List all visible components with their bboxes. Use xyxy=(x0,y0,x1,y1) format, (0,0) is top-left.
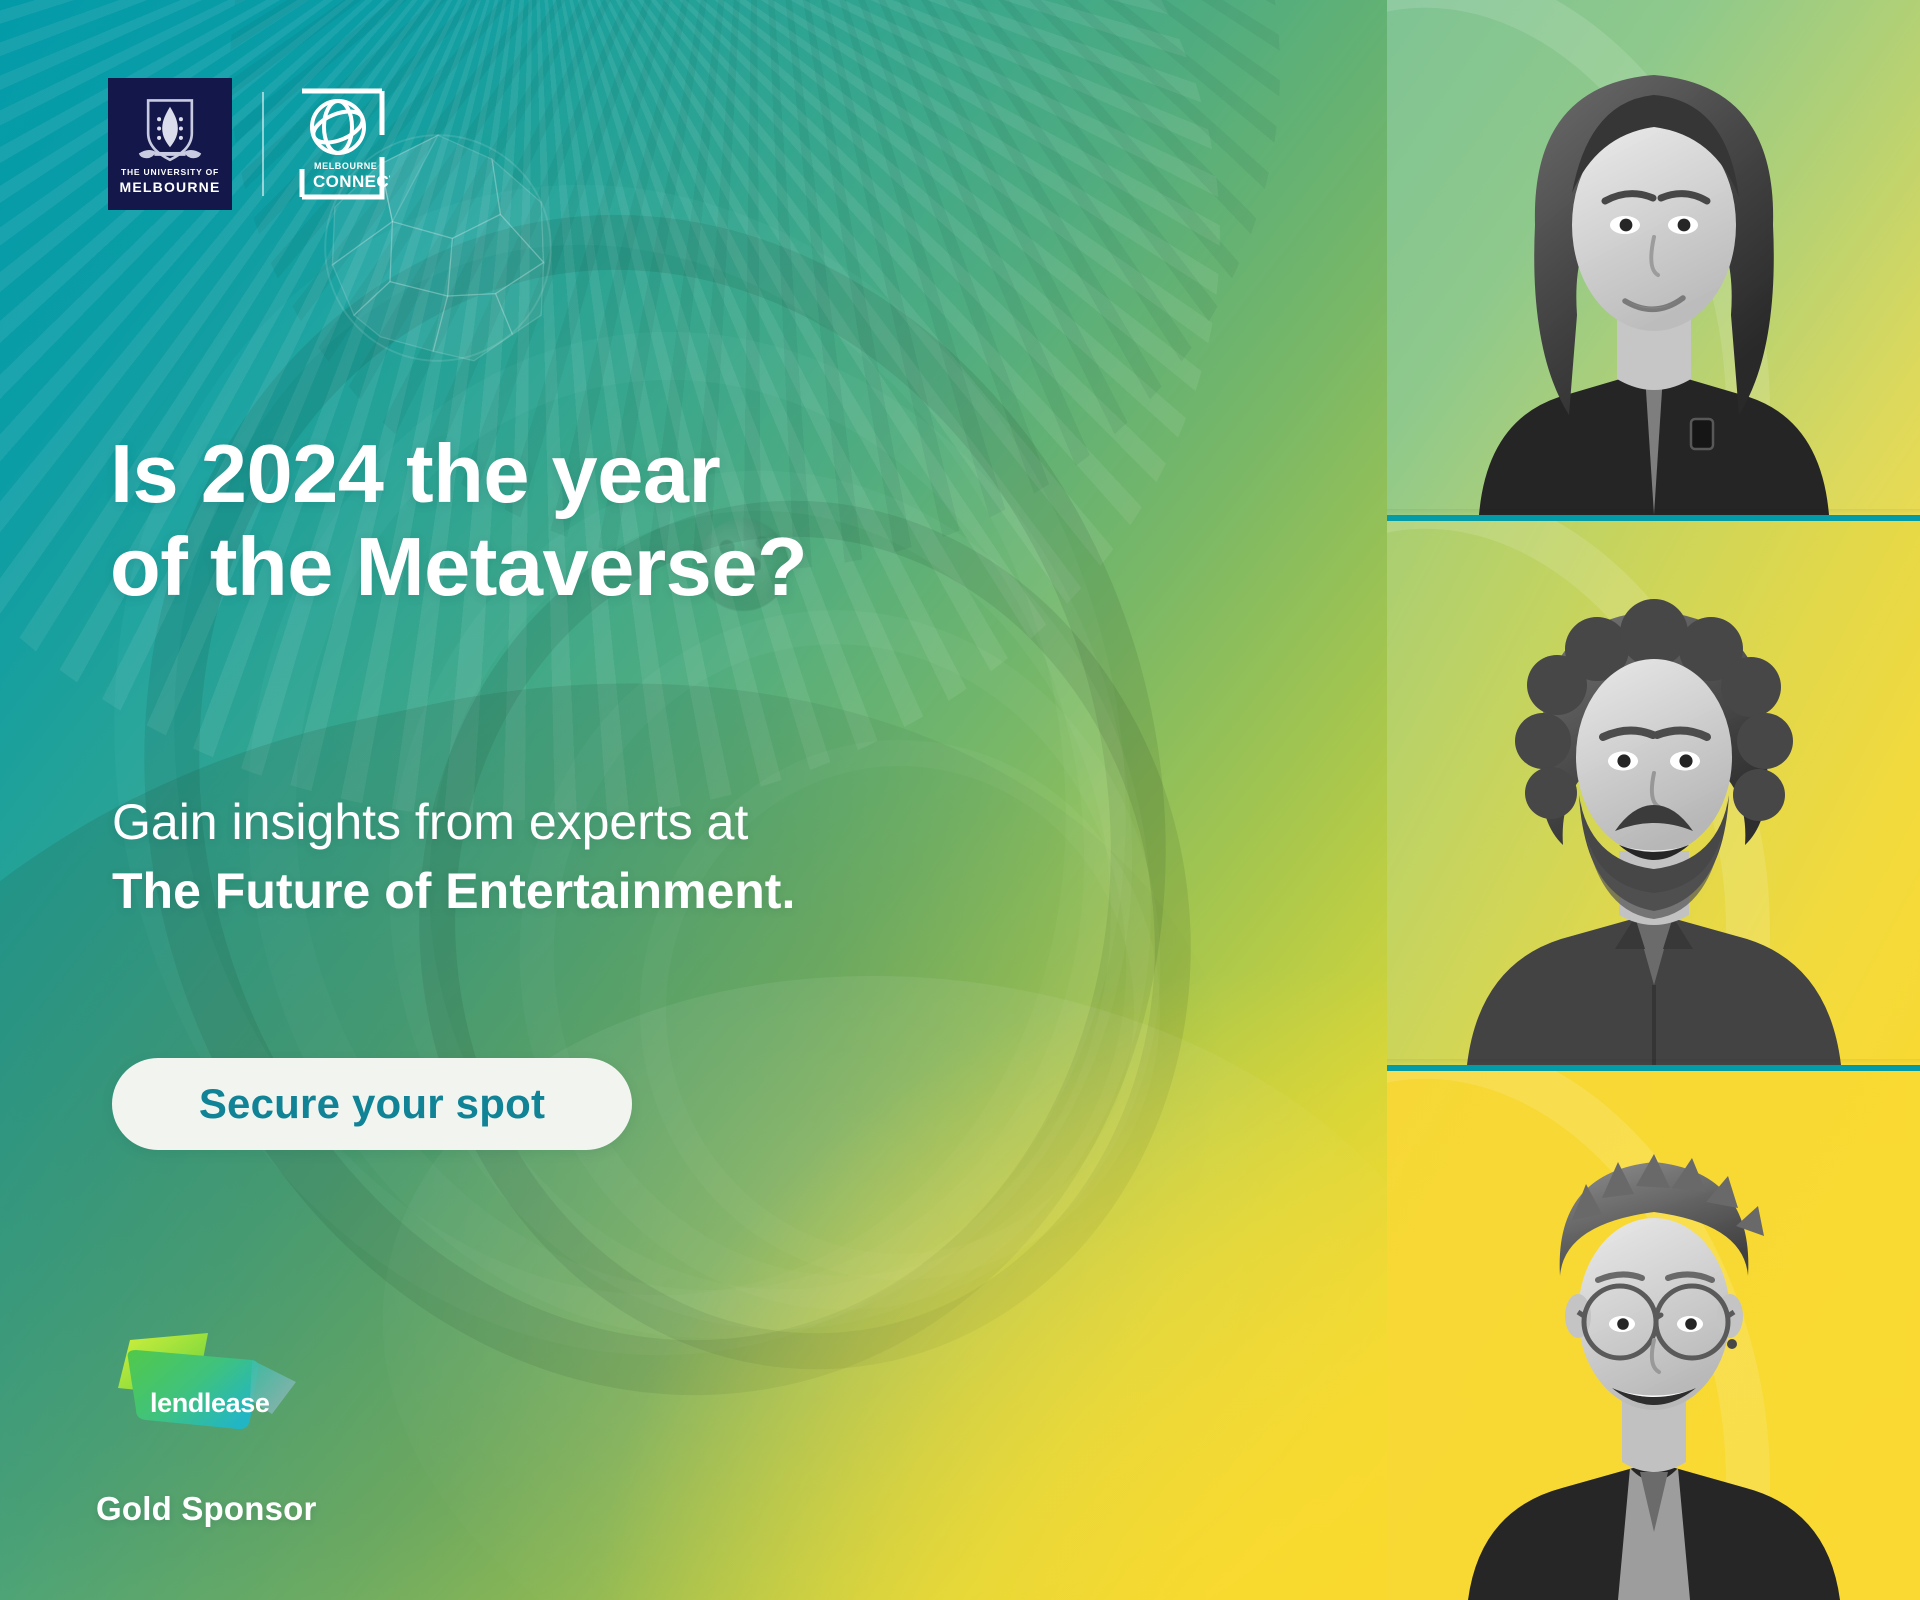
panel-seam xyxy=(1387,509,1920,515)
sponsor-block: lendlease Gold Sponsor xyxy=(100,1330,480,1528)
panel-seam xyxy=(1387,1059,1920,1065)
event-promo-poster: THE UNIVERSITY OF MELBOURNE MELBOU xyxy=(0,0,1920,1600)
university-crest-icon xyxy=(131,88,209,166)
yellow-glow-wash xyxy=(587,960,1387,1600)
subheadline-bold: The Future of Entertainment. xyxy=(112,857,1232,926)
speaker-portrait-2 xyxy=(1439,545,1869,1065)
svg-text:MELBOURNE: MELBOURNE xyxy=(314,161,377,171)
svg-text:CONNECT: CONNECT xyxy=(313,172,390,191)
melbourne-connect-logo[interactable]: MELBOURNE CONNECT xyxy=(294,85,390,203)
university-logo-line2: MELBOURNE xyxy=(119,179,220,195)
headline-line-2: of the Metaverse? xyxy=(110,521,1170,614)
speaker-portrait-3 xyxy=(1444,1100,1864,1600)
page-headline: Is 2024 the year of the Metaverse? xyxy=(110,428,1170,614)
speaker-portrait-panel-2 xyxy=(1387,521,1920,1065)
university-of-melbourne-logo[interactable]: THE UNIVERSITY OF MELBOURNE xyxy=(108,78,232,210)
subheadline-regular: Gain insights from experts at xyxy=(112,788,1232,857)
university-logo-line1: THE UNIVERSITY OF xyxy=(121,167,219,177)
secure-your-spot-button[interactable]: Secure your spot xyxy=(112,1058,632,1150)
lendlease-logo-icon[interactable]: lendlease xyxy=(100,1330,310,1460)
logo-divider xyxy=(262,92,264,196)
headline-line-1: Is 2024 the year xyxy=(110,428,1170,521)
brand-logo-bar: THE UNIVERSITY OF MELBOURNE MELBOU xyxy=(108,78,390,210)
main-content-panel: THE UNIVERSITY OF MELBOURNE MELBOU xyxy=(0,0,1387,1600)
speaker-portrait-column xyxy=(1387,0,1920,1600)
page-subheadline: Gain insights from experts at The Future… xyxy=(112,788,1232,926)
speaker-portrait-panel-1 xyxy=(1387,0,1920,515)
gold-sponsor-label: Gold Sponsor xyxy=(96,1490,480,1528)
speaker-portrait-1 xyxy=(1439,15,1869,515)
speaker-portrait-panel-3 xyxy=(1387,1071,1920,1600)
